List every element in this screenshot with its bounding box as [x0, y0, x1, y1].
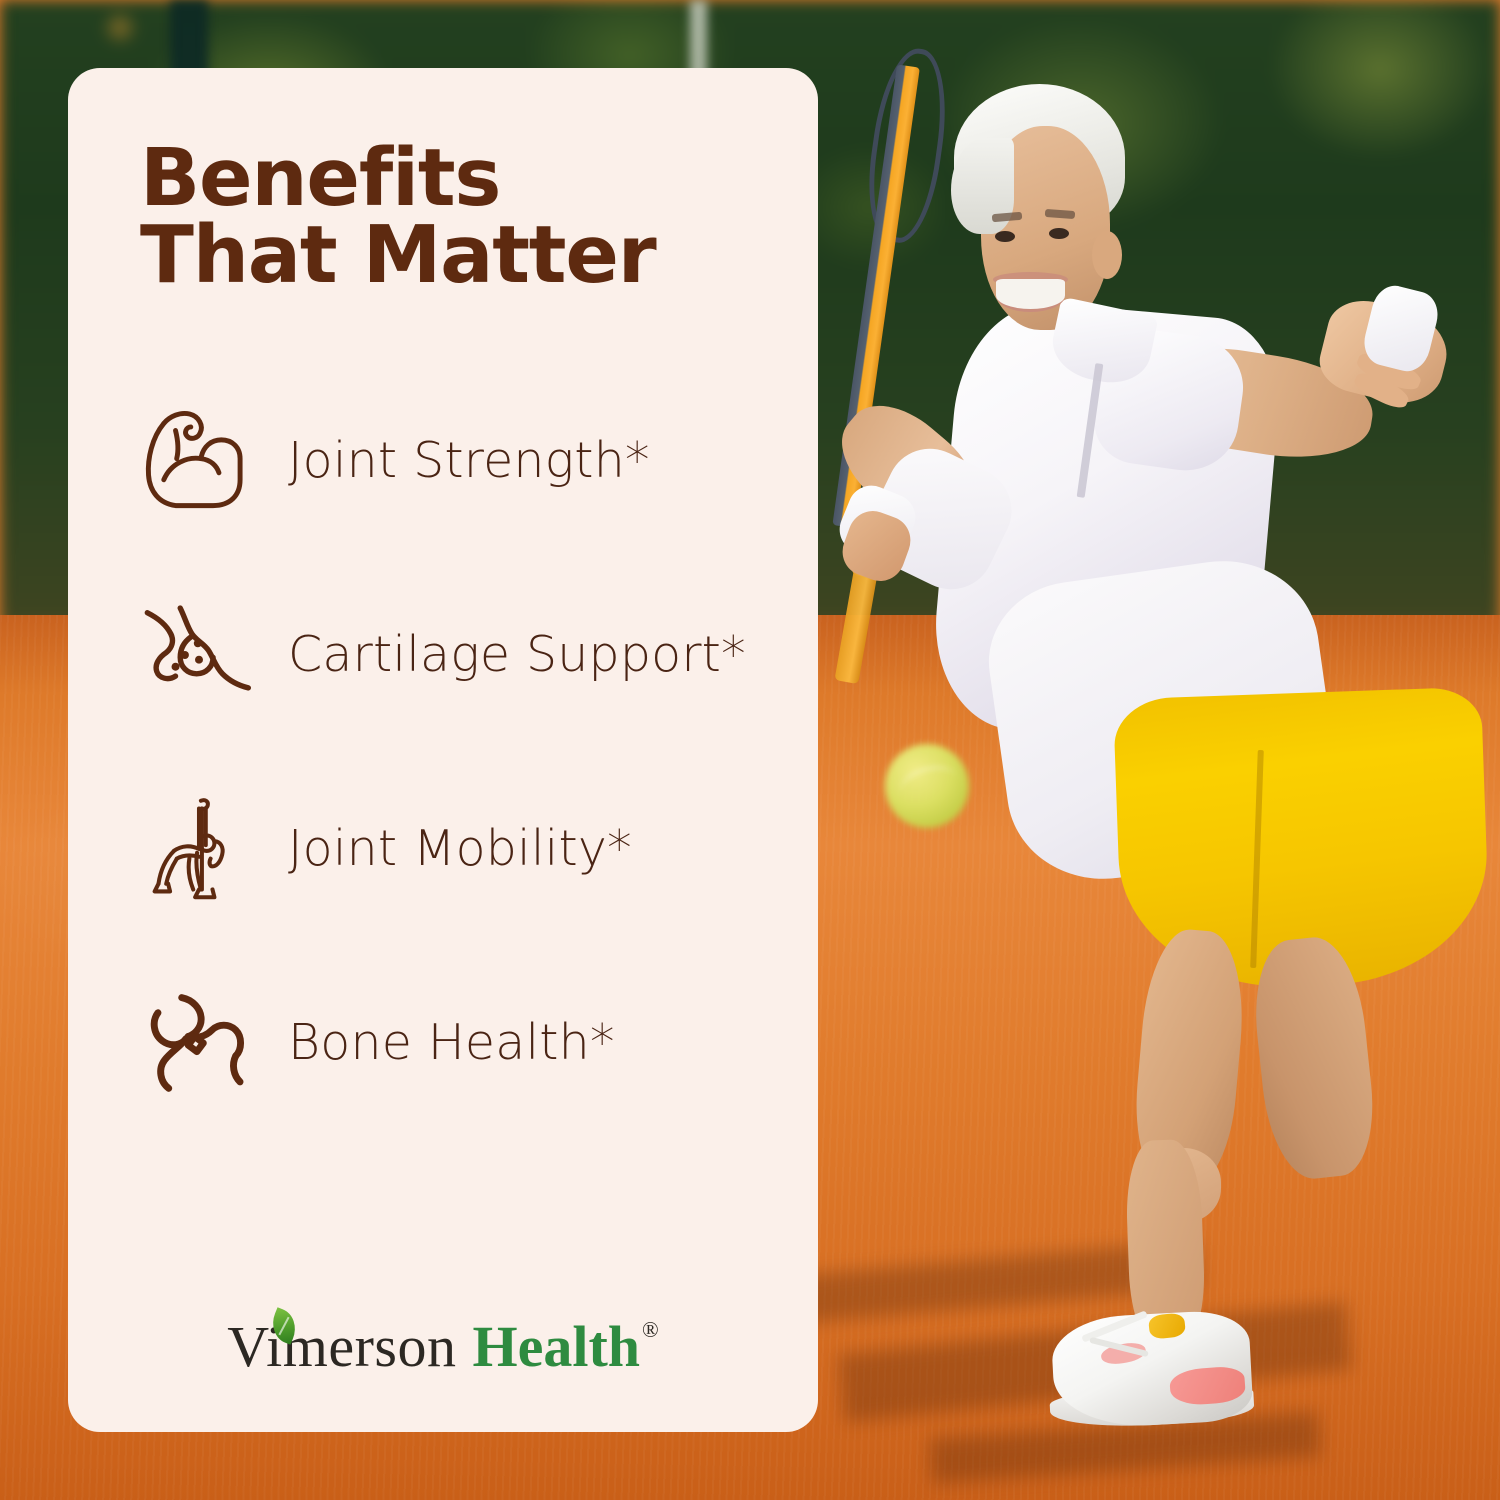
benefit-item-bone-health: Bone Health*: [140, 989, 762, 1097]
bone-joint-icon: [140, 989, 258, 1097]
benefits-card: Benefits That Matter Joint Strength*: [68, 68, 818, 1432]
yoga-stretch-figure-icon: [140, 795, 258, 903]
logo-word-vimerson: Vimerson: [227, 1313, 456, 1380]
benefit-label: Joint Mobility*: [288, 820, 632, 877]
flexed-bicep-icon: [140, 407, 258, 515]
benefit-item-joint-mobility: Joint Mobility*: [140, 795, 762, 903]
registered-trademark-symbol: ®: [642, 1317, 659, 1343]
benefit-item-joint-strength: Joint Strength*: [140, 407, 762, 515]
eye: [995, 231, 1015, 242]
logo-vimerson-text: Vimerson: [227, 1314, 456, 1379]
ear: [1092, 231, 1122, 279]
benefit-item-cartilage-support: Cartilage Support*: [140, 601, 762, 709]
logo-word-health: Health: [473, 1313, 641, 1380]
benefit-label: Bone Health*: [288, 1014, 615, 1071]
benefits-list: Joint Strength* Cartilage Support*: [140, 407, 762, 1097]
benefit-label: Cartilage Support*: [288, 626, 746, 683]
smiling-mouth: [996, 279, 1065, 312]
benefit-label: Joint Strength*: [288, 432, 650, 489]
eye: [1049, 228, 1069, 239]
knee-cartilage-icon: [140, 601, 258, 709]
page-title: Benefits That Matter: [140, 140, 762, 295]
product-benefits-image: Benefits That Matter Joint Strength*: [0, 0, 1500, 1500]
brand-logo: Vimerson Health ®: [68, 1313, 818, 1380]
